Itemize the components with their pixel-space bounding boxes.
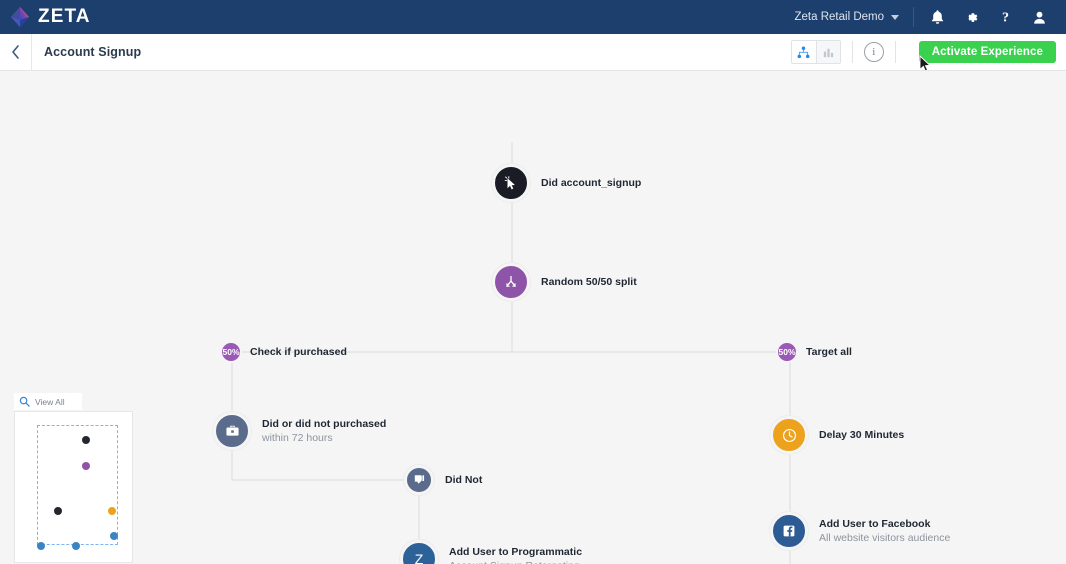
- percent-badge: 50%: [776, 341, 798, 363]
- node-title: Delay 30 Minutes: [819, 428, 904, 442]
- gear-icon[interactable]: [954, 0, 988, 34]
- app-root: ZETA Zeta Retail Demo: [0, 0, 1066, 564]
- minimap-dot: [54, 507, 62, 515]
- minimap-dot: [110, 532, 118, 540]
- node-label-group: Did account_signup: [530, 176, 641, 190]
- minimap-canvas[interactable]: [14, 411, 133, 563]
- badge-split-left[interactable]: 50% Check if purchased: [220, 341, 347, 363]
- topbar-divider: [913, 7, 914, 27]
- minimap-dot: [82, 462, 90, 470]
- flow-connectors: [0, 71, 1066, 564]
- svg-text:Z: Z: [415, 551, 424, 564]
- bell-icon[interactable]: [920, 0, 954, 34]
- node-add-user-to-programmatic[interactable]: Z Add User to Programmatic Account Signu…: [400, 540, 582, 564]
- chevron-down-icon: [891, 15, 899, 20]
- badge-label: Target all: [798, 346, 852, 358]
- zeta-z-icon: Z: [400, 540, 438, 564]
- node-subtitle: All website visitors audience: [819, 531, 950, 545]
- percent-badge: 50%: [220, 341, 242, 363]
- flow-view-icon[interactable]: [792, 41, 816, 63]
- node-delay-30-minutes[interactable]: Delay 30 Minutes: [770, 416, 904, 454]
- back-button[interactable]: [0, 34, 31, 71]
- info-glyph: i: [872, 46, 875, 58]
- help-icon[interactable]: ?: [988, 0, 1022, 34]
- node-title: Add User to Programmatic: [449, 545, 582, 559]
- brand-name: ZETA: [38, 6, 91, 28]
- badge-label: Check if purchased: [242, 346, 347, 358]
- node-label-group: Random 50/50 split: [530, 275, 637, 289]
- node-add-user-to-facebook[interactable]: Add User to Facebook All website visitor…: [770, 512, 950, 550]
- briefcase-icon: [213, 412, 251, 450]
- facebook-icon: [770, 512, 808, 550]
- actions-divider: [852, 41, 853, 63]
- node-did-or-did-not-purchased[interactable]: Did or did not purchased within 72 hours: [213, 412, 386, 450]
- search-icon: [19, 396, 30, 407]
- thumbs-down-icon: [404, 465, 434, 495]
- node-random-split[interactable]: Random 50/50 split: [492, 263, 637, 301]
- actions-divider-2: [895, 41, 896, 63]
- topbar-right-cluster: Zeta Retail Demo ?: [795, 0, 1066, 34]
- node-title: Add User to Facebook: [819, 517, 950, 531]
- user-avatar-icon[interactable]: [1022, 0, 1056, 34]
- minimap-dot: [37, 542, 45, 550]
- node-label-group: Did or did not purchased within 72 hours: [251, 417, 386, 445]
- account-switcher[interactable]: Zeta Retail Demo: [795, 11, 913, 23]
- node-label-group: Delay 30 Minutes: [808, 428, 904, 442]
- page-title: Account Signup: [32, 45, 141, 59]
- minimap-dot: [108, 507, 116, 515]
- node-did-account-signup[interactable]: Did account_signup: [492, 164, 641, 202]
- badge-split-right[interactable]: 50% Target all: [776, 341, 852, 363]
- minimap-dot: [82, 436, 90, 444]
- account-name: Zeta Retail Demo: [795, 11, 884, 23]
- node-label-group: Add User to Facebook All website visitor…: [808, 517, 950, 545]
- node-subtitle: within 72 hours: [262, 431, 386, 445]
- node-did-not[interactable]: Did Not: [404, 465, 482, 495]
- node-subtitle: Account Signup Retargeting: [449, 559, 582, 564]
- node-title: Did Not: [445, 473, 482, 487]
- view-all-label: View All: [35, 397, 65, 407]
- click-cursor-icon: [492, 164, 530, 202]
- view-toggle-group: [791, 40, 841, 64]
- mouse-cursor-icon: [919, 55, 931, 72]
- node-title: Random 50/50 split: [541, 275, 637, 289]
- minimap-dot: [72, 542, 80, 550]
- svg-text:?: ?: [1001, 10, 1008, 25]
- node-label-group: Did Not: [434, 473, 482, 487]
- page-header-bar: Account Signup: [0, 34, 1066, 71]
- info-circle-icon[interactable]: i: [864, 42, 884, 62]
- activate-experience-button[interactable]: Activate Experience: [919, 41, 1056, 63]
- top-navigation-bar: ZETA Zeta Retail Demo: [0, 0, 1066, 34]
- split-branch-icon: [492, 263, 530, 301]
- stats-view-icon[interactable]: [816, 41, 840, 63]
- node-label-group: Add User to Programmatic Account Signup …: [438, 545, 582, 564]
- node-title: Did account_signup: [541, 176, 641, 190]
- minimap-panel: View All: [14, 393, 133, 563]
- zeta-diamond-logo-icon: [9, 5, 31, 29]
- minimap-viewport-rect[interactable]: [37, 425, 118, 545]
- view-all-button[interactable]: View All: [14, 393, 82, 410]
- clock-icon: [770, 416, 808, 454]
- brand-logo[interactable]: ZETA: [0, 5, 91, 29]
- node-title: Did or did not purchased: [262, 417, 386, 431]
- journey-canvas[interactable]: Did account_signup Random 50/50 split 50…: [0, 71, 1066, 564]
